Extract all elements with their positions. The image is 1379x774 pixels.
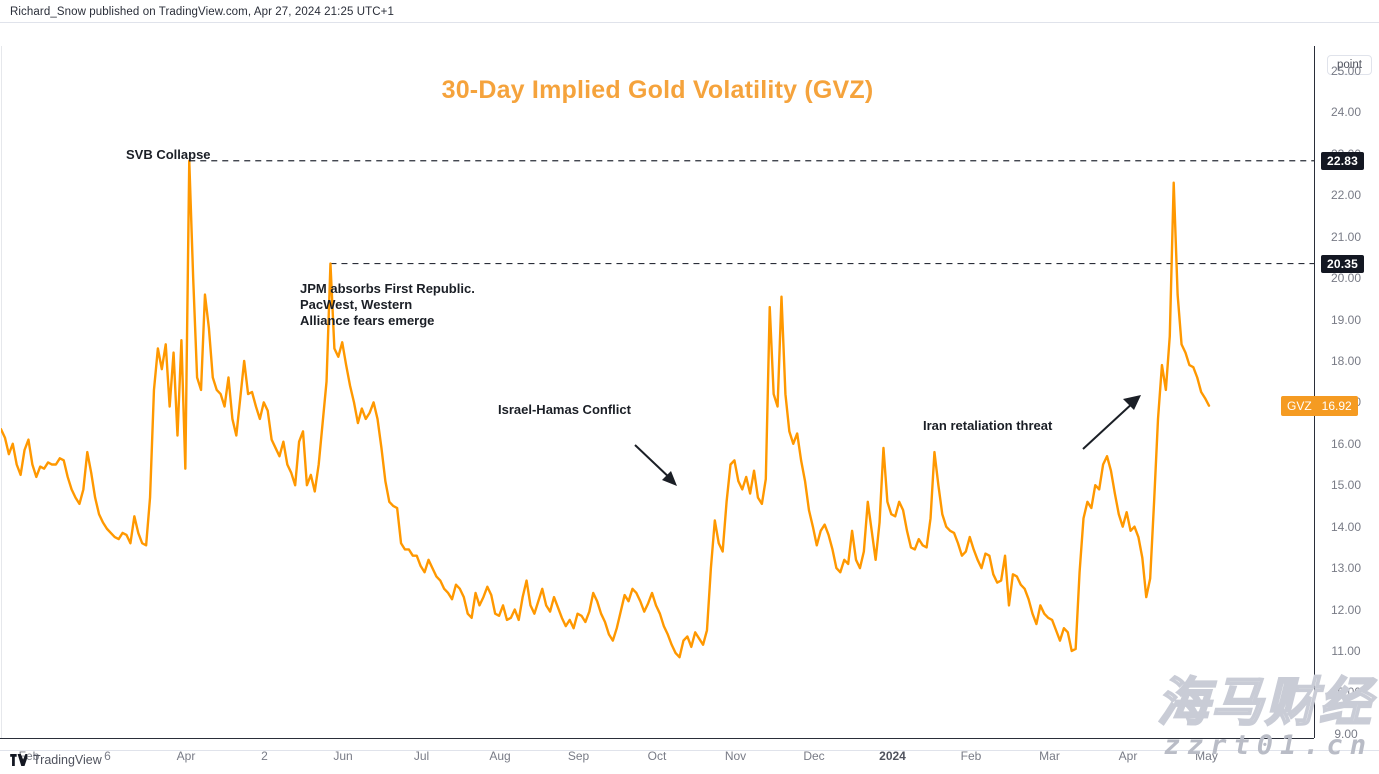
time-tick: Nov — [725, 749, 746, 763]
price-tick: 24.00 — [1315, 105, 1377, 119]
price-tick: 22.00 — [1315, 188, 1377, 202]
price-tick: 10.00 — [1315, 685, 1377, 699]
reference-lines — [189, 161, 1314, 264]
plot-area[interactable]: 30-Day Implied Gold Volatility (GVZ) SVB… — [1, 46, 1314, 738]
time-tick: Apr — [177, 749, 196, 763]
time-tick: 2024 — [879, 749, 906, 763]
arrow-down-right-icon — [631, 441, 691, 491]
time-tick: Jul — [414, 749, 429, 763]
price-tick: 20.00 — [1315, 271, 1377, 285]
price-tick: 16.00 — [1315, 437, 1377, 451]
price-tick: 11.00 — [1315, 644, 1377, 658]
price-tick: 14.00 — [1315, 520, 1377, 534]
time-tick: Sep — [568, 749, 589, 763]
last-price-symbol: GVZ — [1287, 399, 1312, 413]
time-tick: 6 — [104, 749, 111, 763]
svb-peak-badge: 22.83 — [1321, 152, 1364, 170]
price-tick: 19.00 — [1315, 313, 1377, 327]
time-tick: 2 — [261, 749, 268, 763]
time-tick: Feb — [961, 749, 982, 763]
price-tick: 9.00 — [1315, 727, 1377, 741]
time-tick: Dec — [803, 749, 824, 763]
time-tick: Oct — [648, 749, 667, 763]
price-tick: 15.00 — [1315, 478, 1377, 492]
time-tick: Jun — [333, 749, 352, 763]
annotation-svb-collapse: SVB Collapse — [126, 147, 211, 163]
price-tick: 13.00 — [1315, 561, 1377, 575]
last-price-value: 16.92 — [1322, 399, 1352, 413]
annotation-jpm-first-republic: JPM absorbs First Republic. PacWest, Wes… — [300, 281, 475, 329]
tradingview-wordmark: TradingView — [33, 753, 102, 767]
price-tick: 21.00 — [1315, 230, 1377, 244]
attribution-text: Richard_Snow published on TradingView.co… — [10, 6, 394, 18]
tradingview-logo[interactable]: TradingView — [10, 753, 102, 767]
chart-title: 30-Day Implied Gold Volatility (GVZ) — [1, 76, 1314, 105]
price-tick: 18.00 — [1315, 354, 1377, 368]
time-tick: Apr — [1119, 749, 1138, 763]
time-tick: May — [1195, 749, 1218, 763]
annotation-iran-threat: Iran retaliation threat — [923, 418, 1052, 434]
time-axis[interactable]: Feb6Apr2JunJulAugSepOctNovDec2024FebMarA… — [0, 738, 1314, 774]
price-tick: 12.00 — [1315, 603, 1377, 617]
price-tick: 25.00 — [1315, 64, 1377, 78]
last-price-badge[interactable]: GVZ16.92 — [1281, 396, 1358, 416]
time-tick: Aug — [489, 749, 510, 763]
annotation-israel-hamas: Israel-Hamas Conflict — [498, 402, 631, 418]
jpm-peak-badge: 20.35 — [1321, 255, 1364, 273]
price-axis[interactable]: point 25.0024.0023.0022.0021.0020.0019.0… — [1314, 46, 1379, 738]
time-tick: Mar — [1039, 749, 1060, 763]
arrow-up-right-icon — [1079, 391, 1149, 455]
chart-frame: 30-Day Implied Gold Volatility (GVZ) SVB… — [0, 22, 1379, 751]
tradingview-mark-icon — [10, 754, 27, 766]
